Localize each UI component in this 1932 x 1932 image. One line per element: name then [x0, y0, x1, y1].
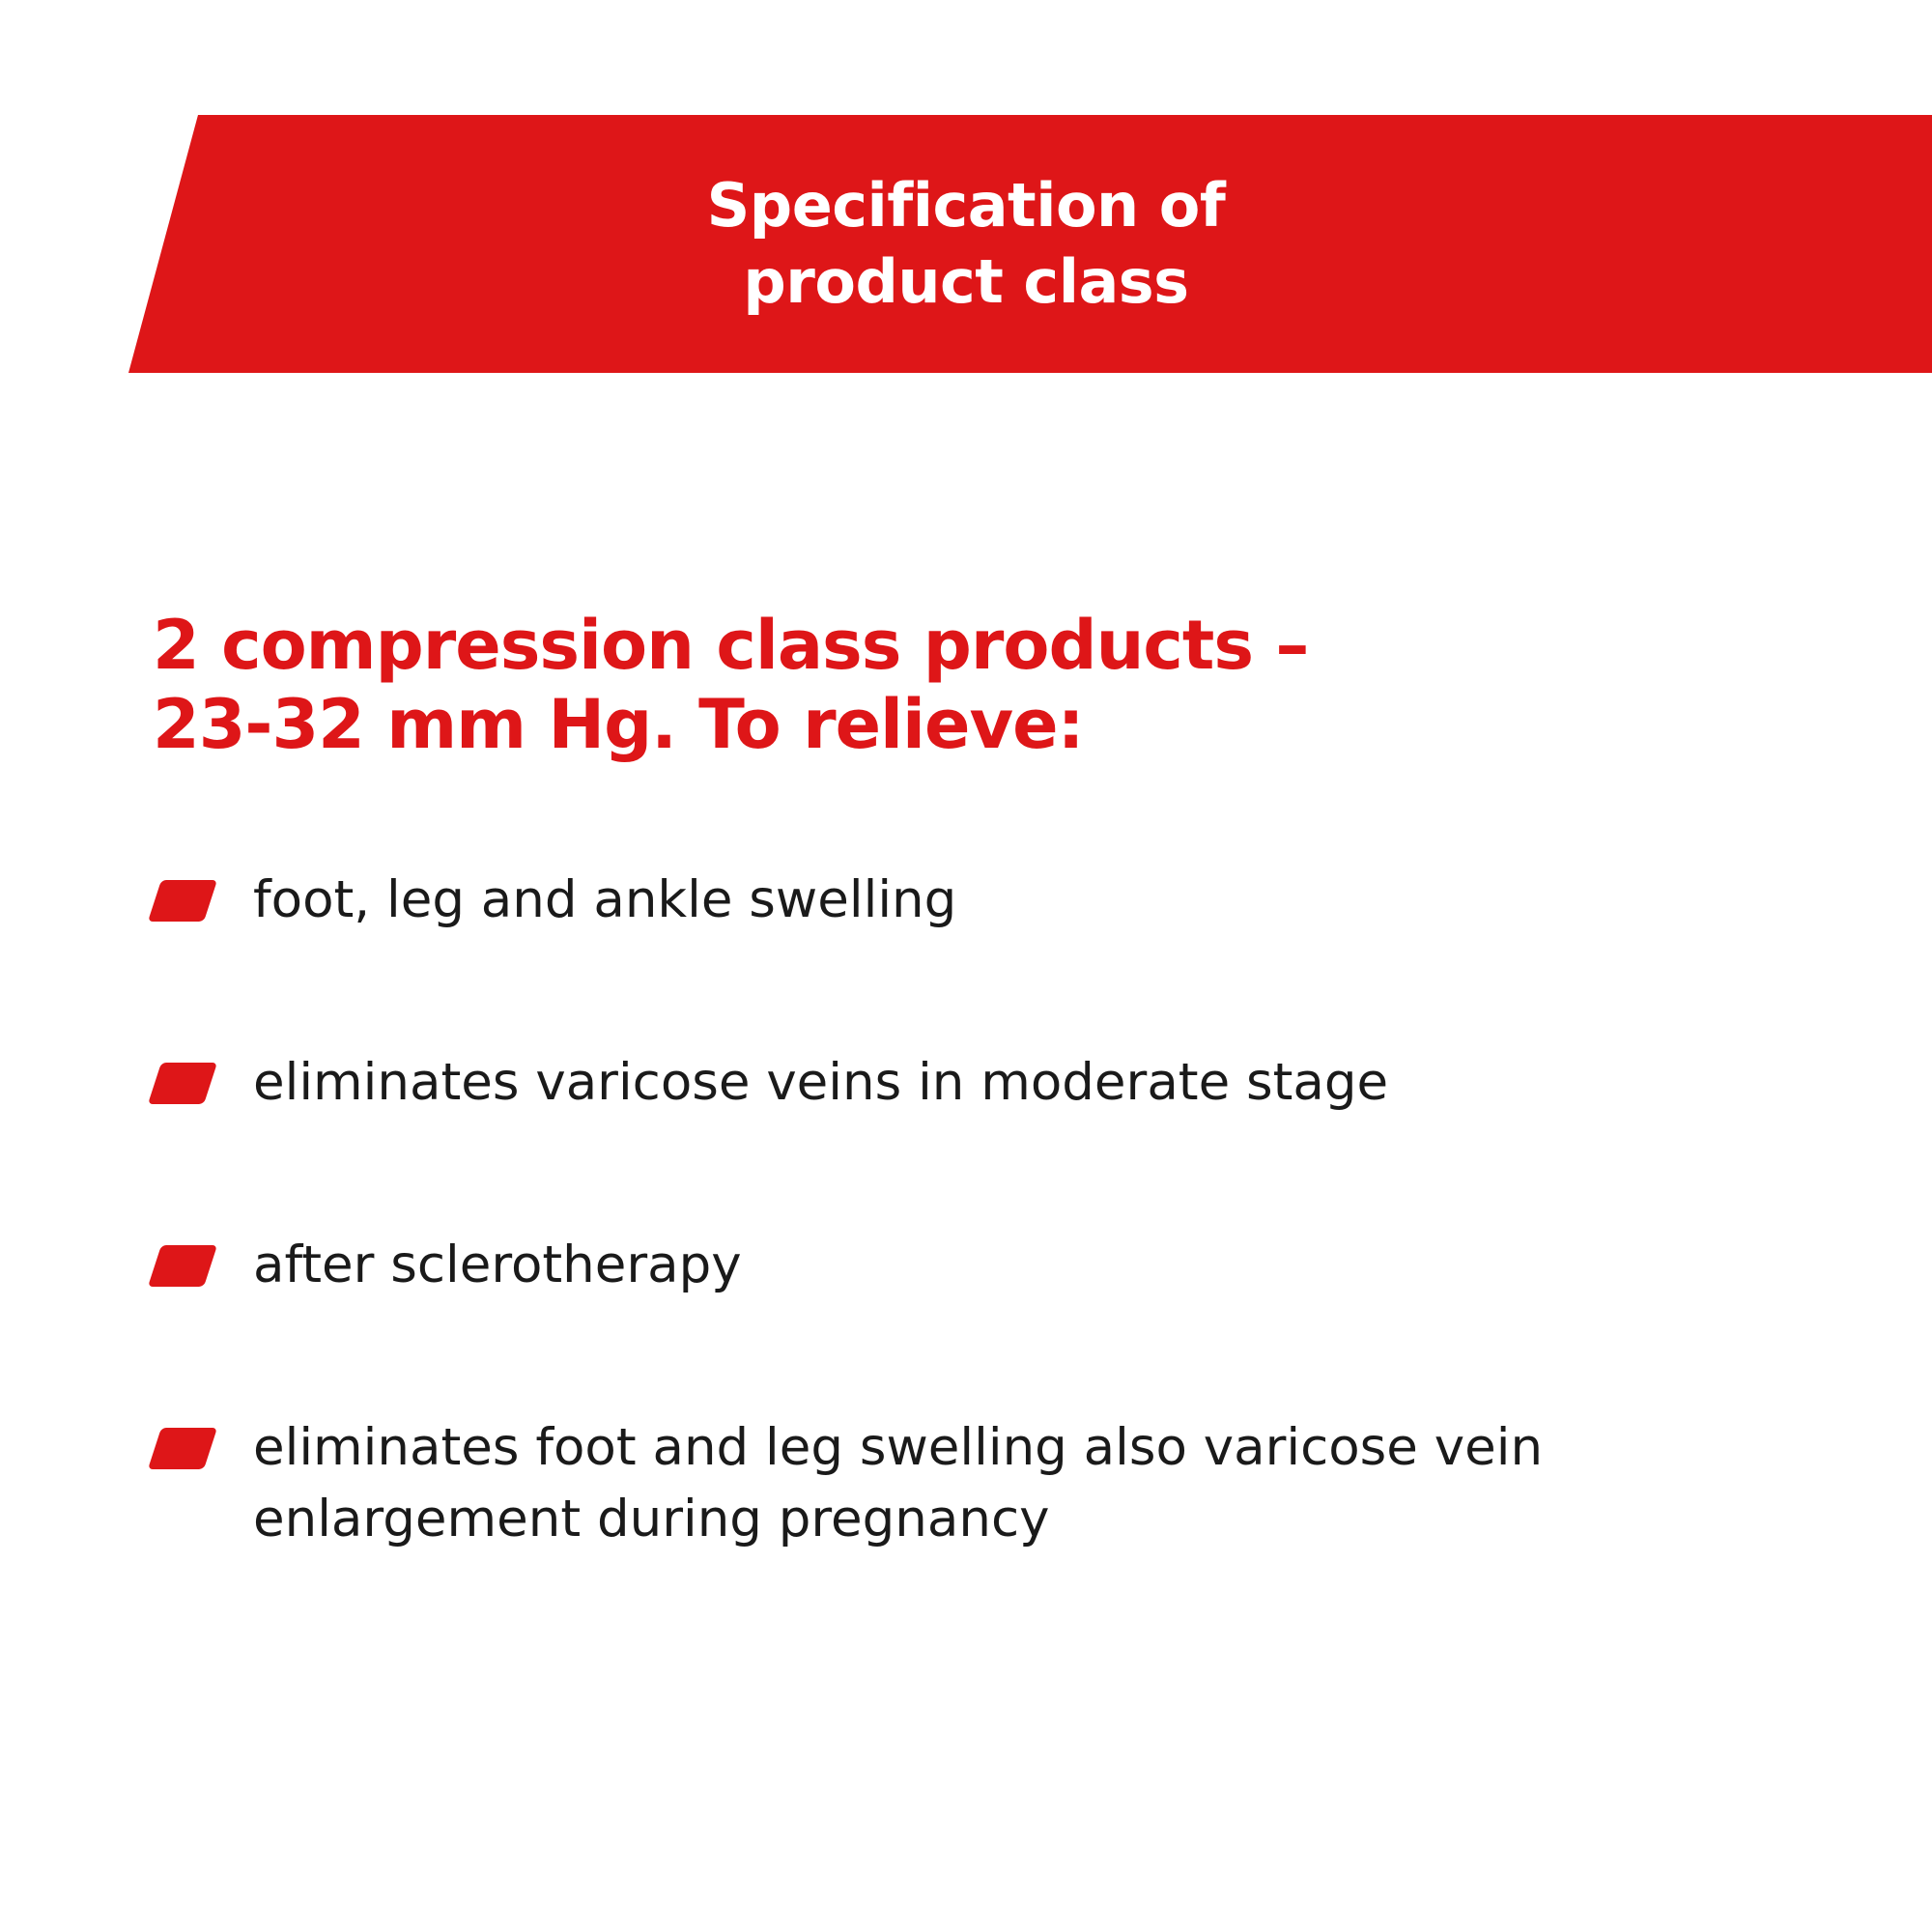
list-item: foot, leg and ankle swelling: [0, 865, 1932, 935]
list-item: eliminates varicose veins in moderate st…: [0, 1047, 1932, 1118]
red-parallelogram-bullet-icon: [148, 880, 217, 922]
red-parallelogram-bullet-icon: [148, 1428, 217, 1469]
benefits-list: foot, leg and ankle swelling eliminates …: [0, 865, 1932, 1554]
red-parallelogram-bullet-icon: [148, 1063, 217, 1104]
list-item-label: foot, leg and ankle swelling: [253, 865, 1605, 935]
list-item: after sclerotherapy: [0, 1230, 1932, 1300]
section-heading: 2 compression class products – 23-32 mm …: [153, 607, 1698, 765]
red-parallelogram-bullet-icon: [148, 1245, 217, 1287]
list-item-label: eliminates varicose veins in moderate st…: [253, 1047, 1605, 1118]
list-item-label: eliminates foot and leg swelling also va…: [253, 1412, 1605, 1553]
main-content: 2 compression class products – 23-32 mm …: [0, 0, 1932, 1932]
list-item: eliminates foot and leg swelling also va…: [0, 1412, 1932, 1553]
list-item-label: after sclerotherapy: [253, 1230, 1605, 1300]
slide-page: Specification of product class 2 compres…: [0, 0, 1932, 1932]
